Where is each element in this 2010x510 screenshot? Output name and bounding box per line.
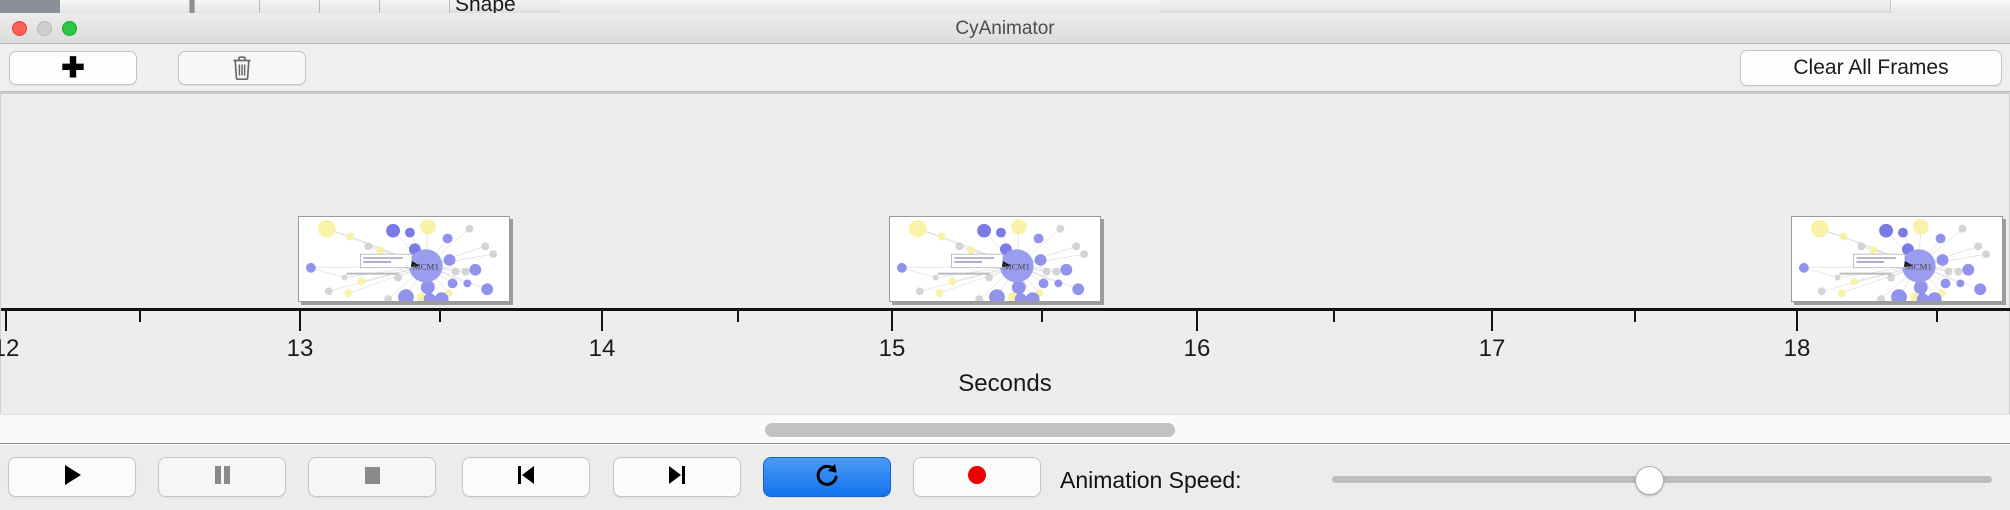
plus-icon: ✚ (61, 54, 84, 82)
skip-end-button[interactable] (613, 457, 741, 497)
skip-forward-icon (664, 462, 690, 493)
axis-tick (1796, 311, 1798, 331)
timeline-panel[interactable]: MCM1MCM1MCM1 12131415161718 Seconds (0, 92, 2010, 414)
stop-icon (359, 462, 385, 493)
play-button[interactable] (8, 457, 136, 497)
pause-icon (209, 462, 235, 493)
axis-tick-label: 17 (1479, 335, 1506, 363)
skip-back-icon (513, 462, 539, 493)
record-button[interactable] (913, 457, 1041, 497)
axis-tick (1196, 311, 1198, 331)
delete-frame-button[interactable] (178, 51, 306, 85)
axis-tick-label: 12 (0, 335, 19, 363)
cyanimator-window: Shape CyAnimator ✚ Clear All Frames (0, 0, 2010, 510)
timeline-axis (1, 308, 2010, 311)
window-title: CyAnimator (0, 13, 2010, 44)
background-window-strip: Shape (0, 0, 2010, 13)
skip-start-button[interactable] (462, 457, 590, 497)
loop-icon (813, 461, 841, 494)
axis-tick (601, 311, 603, 331)
background-shape-label: Shape (455, 0, 516, 13)
axis-tick (737, 311, 739, 322)
axis-tick (891, 311, 893, 331)
background-right-corner (1890, 0, 2010, 13)
timeline-scrollbar[interactable] (0, 414, 2010, 444)
clear-all-frames-label: Clear All Frames (1793, 56, 1948, 80)
timeline-frame-thumbnail[interactable]: MCM1 (889, 216, 1101, 302)
loop-button[interactable] (763, 457, 891, 497)
axis-tick (1041, 311, 1043, 322)
animation-speed-slider-thumb[interactable] (1635, 466, 1664, 495)
axis-tick (1634, 311, 1636, 322)
svg-text:MCM1: MCM1 (413, 262, 439, 272)
timeline-frame-thumbnail[interactable]: MCM1 (1791, 216, 2003, 302)
playback-controlbar: Animation Speed: (0, 445, 2010, 510)
pause-button[interactable] (158, 457, 286, 497)
axis-tick (1333, 311, 1335, 322)
window-titlebar: CyAnimator (0, 13, 2010, 44)
axis-tick (439, 311, 441, 322)
axis-tick-label: 13 (287, 335, 314, 363)
axis-title: Seconds (1, 370, 2009, 398)
axis-tick-label: 14 (589, 335, 616, 363)
axis-tick (1491, 311, 1493, 331)
axis-tick (1936, 311, 1938, 322)
axis-tick (299, 311, 301, 331)
axis-tick-label: 18 (1784, 335, 1811, 363)
animation-speed-label: Animation Speed: (1060, 467, 1242, 494)
add-frame-button[interactable]: ✚ (9, 51, 137, 85)
frames-toolbar: ✚ Clear All Frames (0, 44, 2010, 92)
axis-tick (5, 311, 7, 331)
clear-all-frames-button[interactable]: Clear All Frames (1740, 50, 2002, 86)
timeline-frame-thumbnail[interactable]: MCM1 (298, 216, 510, 302)
axis-tick (139, 311, 141, 322)
trash-icon (231, 55, 253, 81)
timeline-scrollbar-thumb[interactable] (765, 423, 1175, 437)
axis-tick-label: 16 (1184, 335, 1211, 363)
svg-text:MCM1: MCM1 (1906, 262, 1932, 272)
axis-tick-label: 15 (879, 335, 906, 363)
svg-text:MCM1: MCM1 (1004, 262, 1030, 272)
record-icon (964, 462, 990, 493)
timeline-top-divider (1, 92, 2009, 94)
play-icon (59, 462, 85, 493)
stop-button[interactable] (308, 457, 436, 497)
